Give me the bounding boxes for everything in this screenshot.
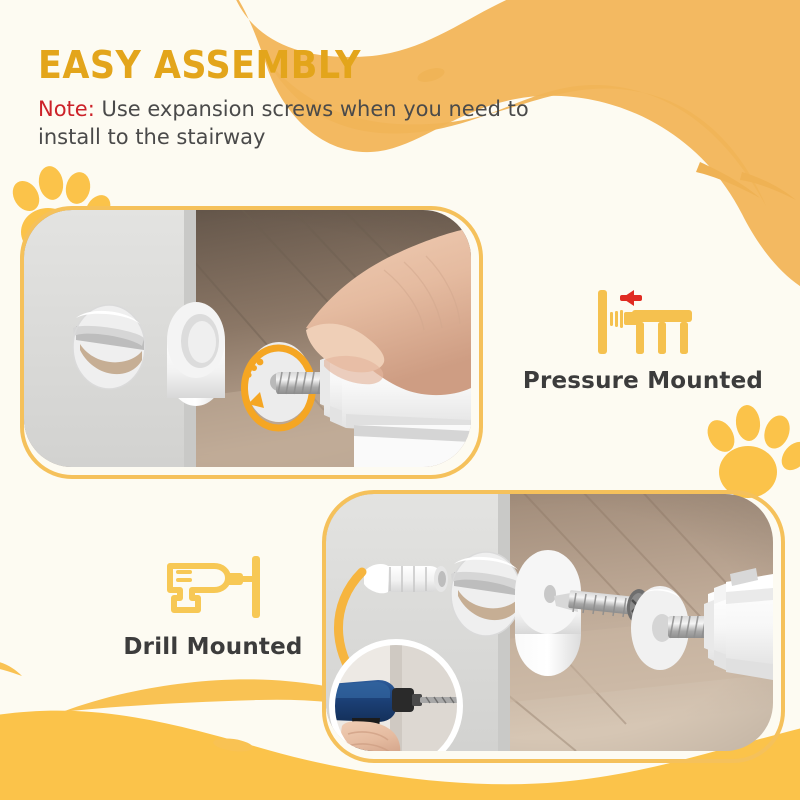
method-label-pressure-mounted: Pressure Mounted xyxy=(498,282,788,394)
pressure-gate-icon xyxy=(588,282,698,362)
photo-panel-pressure-mounted xyxy=(20,206,483,479)
note-body: Use expansion screws when you need to in… xyxy=(38,97,529,149)
method-label-drill-mounted: Drill Mounted xyxy=(88,548,338,660)
method-label-text: Pressure Mounted xyxy=(498,368,788,394)
power-drill-icon xyxy=(158,548,268,628)
pressure-gate-icon-wrap xyxy=(498,282,788,362)
note-text: Note: Use expansion screws when you need… xyxy=(38,96,578,151)
header-block: EASY ASSEMBLY Note: Use expansion screws… xyxy=(38,46,598,151)
left-arrow-icon xyxy=(620,290,642,306)
note-lead: Note: xyxy=(38,97,95,121)
method-label-text: Drill Mounted xyxy=(88,634,338,660)
page-title: EASY ASSEMBLY xyxy=(38,46,553,84)
photo-panel-drill-mounted xyxy=(322,490,785,763)
power-drill-icon-wrap xyxy=(88,548,338,628)
infographic-canvas: EASY ASSEMBLY Note: Use expansion screws… xyxy=(0,0,800,800)
